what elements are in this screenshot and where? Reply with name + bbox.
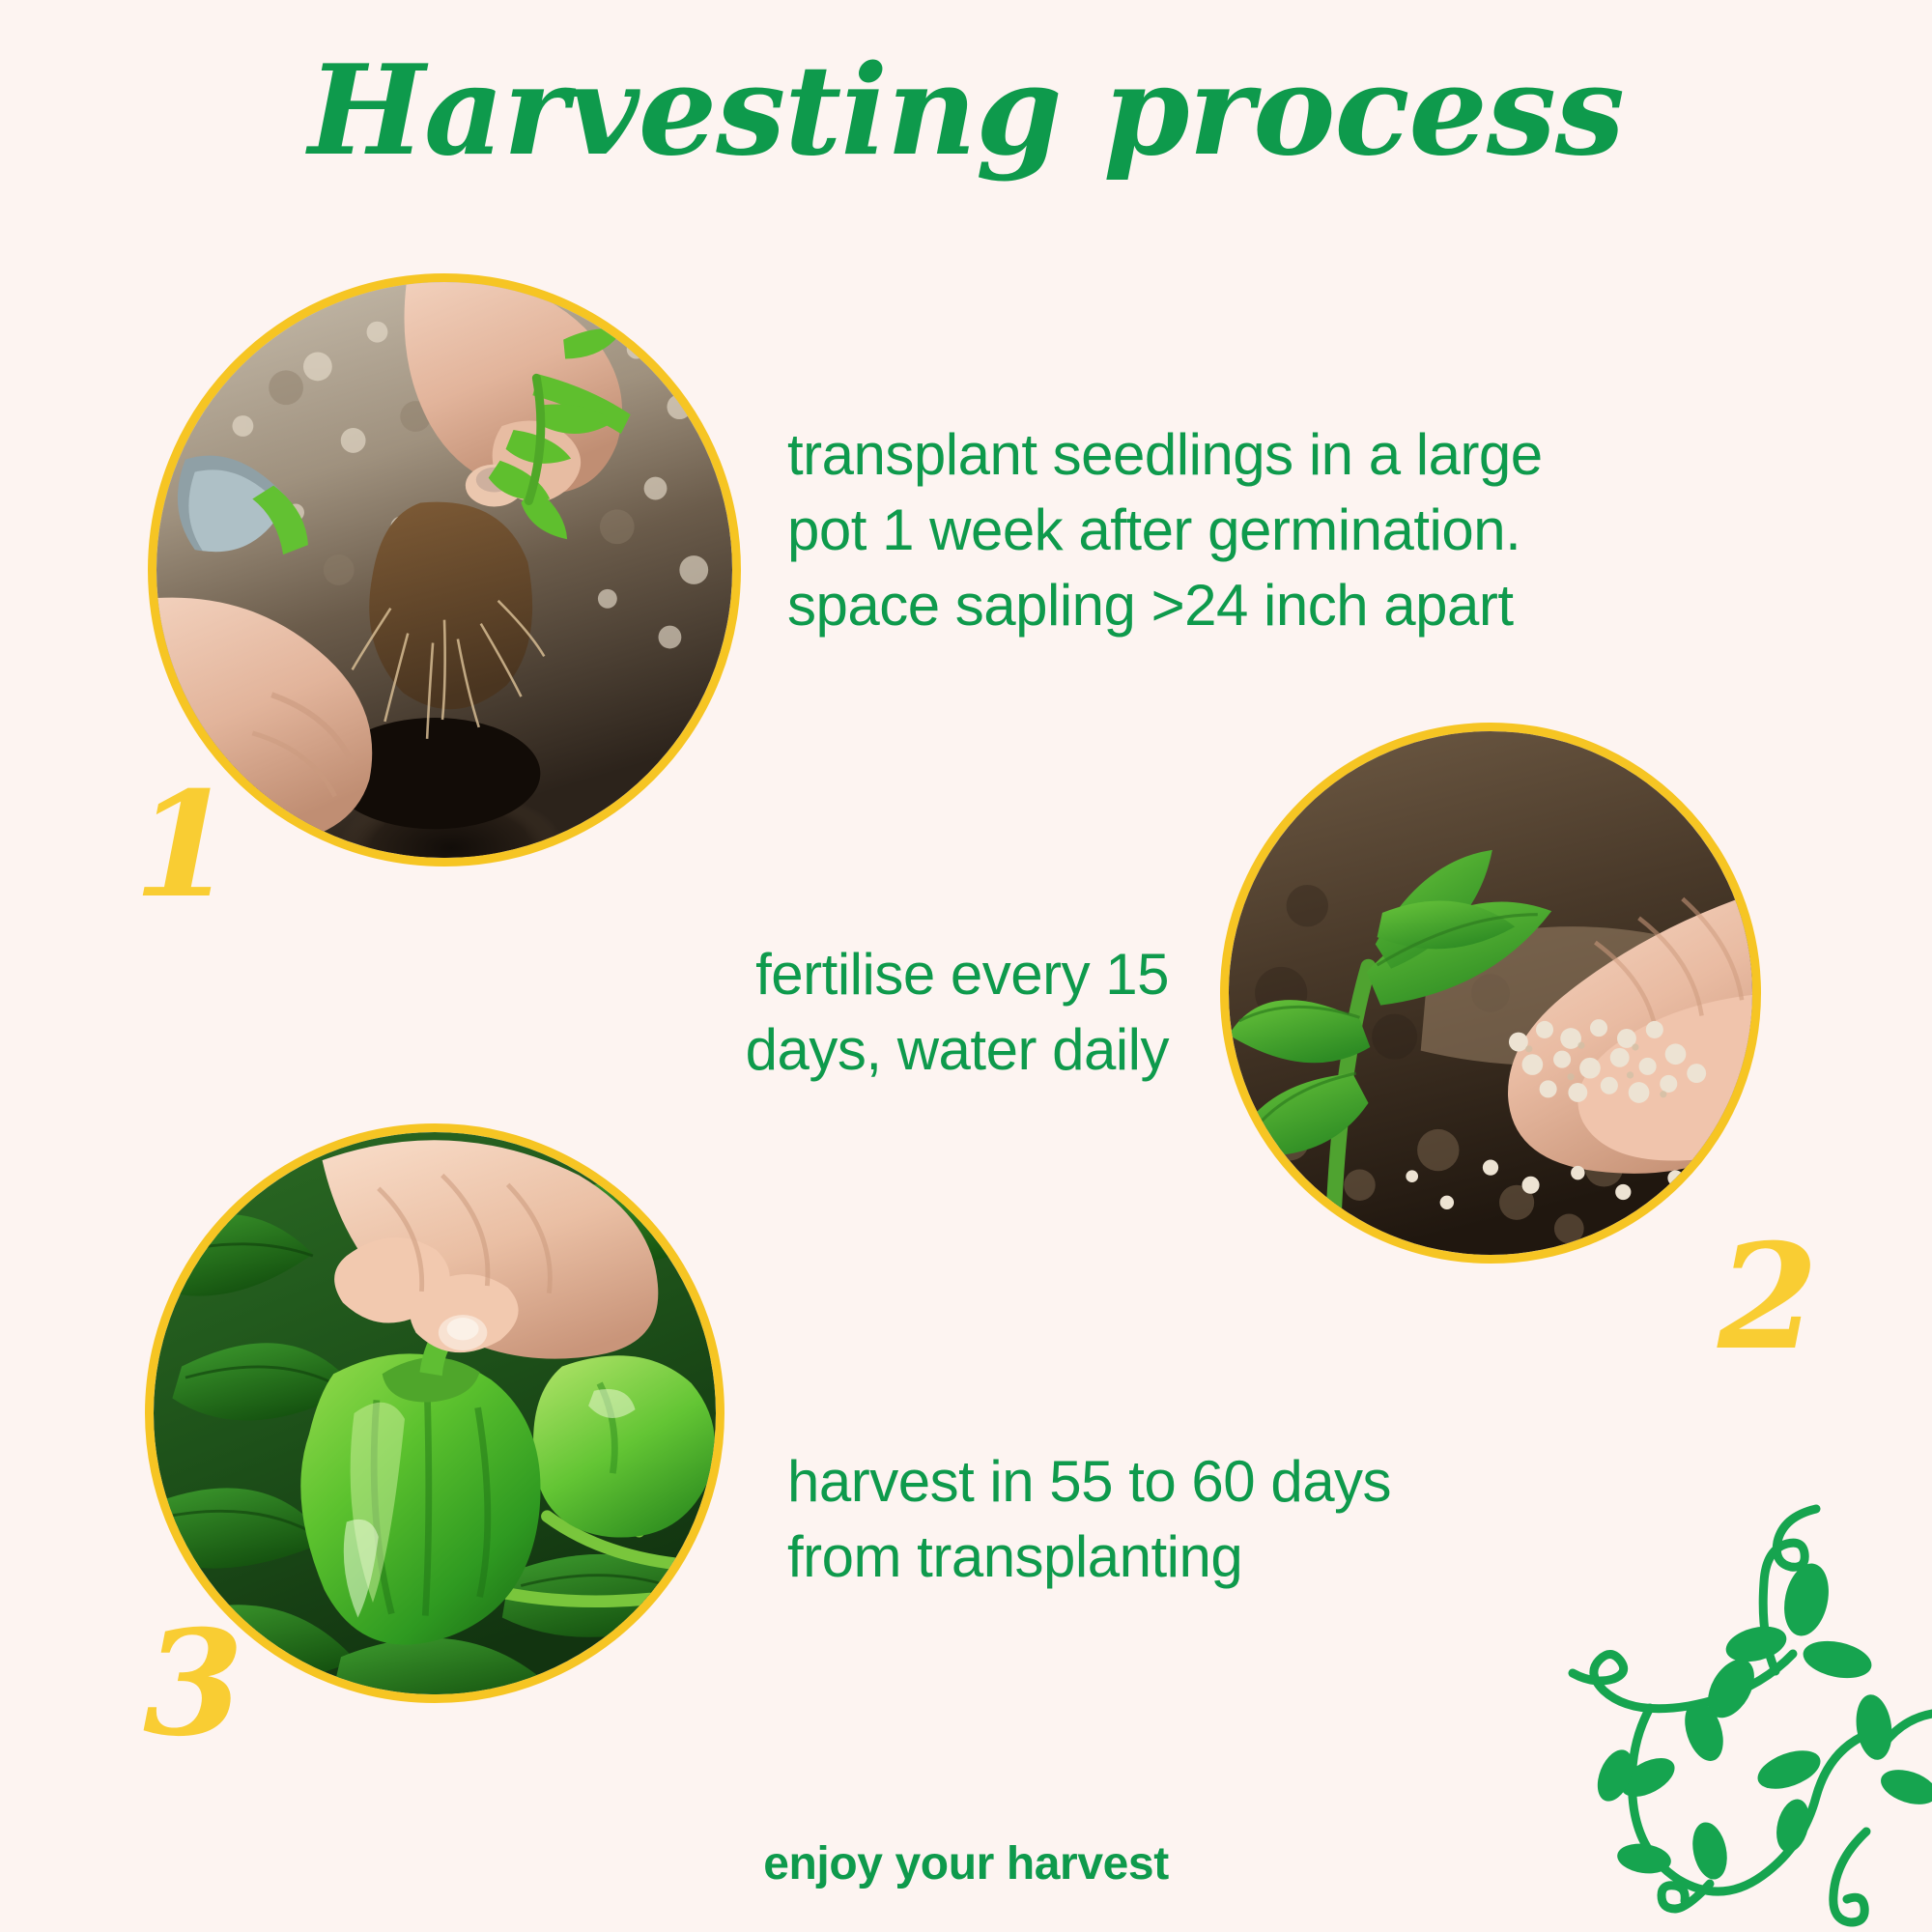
- step-1-photo-inner: [156, 282, 732, 858]
- page-title: Harvesting process: [0, 46, 1932, 176]
- step-2-photo-inner: [1229, 731, 1752, 1255]
- transplanting-seedling-illustration: [156, 282, 732, 858]
- step-1-caption: transplant seedlings in a large pot 1 we…: [787, 417, 1589, 643]
- step-3-number: 3: [143, 1611, 243, 1756]
- step-1-number: 1: [133, 773, 234, 918]
- footer-text: enjoy your harvest: [0, 1837, 1932, 1890]
- step-2-photo: [1220, 723, 1761, 1264]
- step-2-caption: fertilise every 15 days, water daily: [580, 937, 1169, 1088]
- fertilising-seedling-illustration: [1229, 731, 1752, 1255]
- poster-canvas: Harvesting process: [0, 0, 1932, 1932]
- step-3-caption: harvest in 55 to 60 days from transplant…: [787, 1444, 1589, 1595]
- step-1-photo: [148, 273, 741, 867]
- step-2-number: 2: [1718, 1225, 1818, 1370]
